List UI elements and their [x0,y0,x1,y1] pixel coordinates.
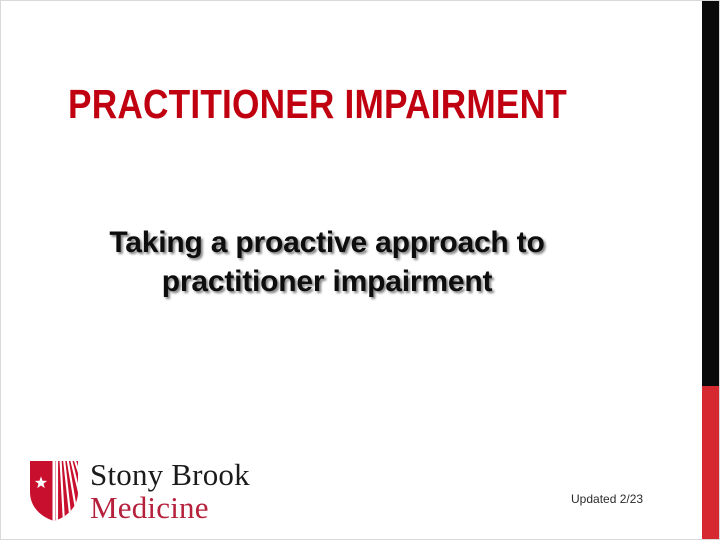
right-edge-accent-bar-red [702,386,719,540]
stony-brook-shield-icon [28,459,80,523]
presentation-slide: PRACTITIONER IMPAIRMENT Taking a proacti… [0,0,720,540]
slide-subtitle-line-2: practitioner impairment [53,262,601,301]
logo-wordmark: Stony Brook Medicine [90,458,250,524]
stony-brook-medicine-logo: Stony Brook Medicine [28,457,250,524]
slide-title: PRACTITIONER IMPAIRMENT [45,81,589,127]
right-edge-accent-bar-black [702,1,719,386]
slide-subtitle-line-1: Taking a proactive approach to [53,223,601,262]
updated-date-note: Updated 2/23 [571,492,643,506]
logo-wordmark-line-1: Stony Brook [90,458,250,491]
logo-wordmark-line-2: Medicine [90,491,250,524]
slide-subtitle: Taking a proactive approach to practitio… [53,223,601,301]
